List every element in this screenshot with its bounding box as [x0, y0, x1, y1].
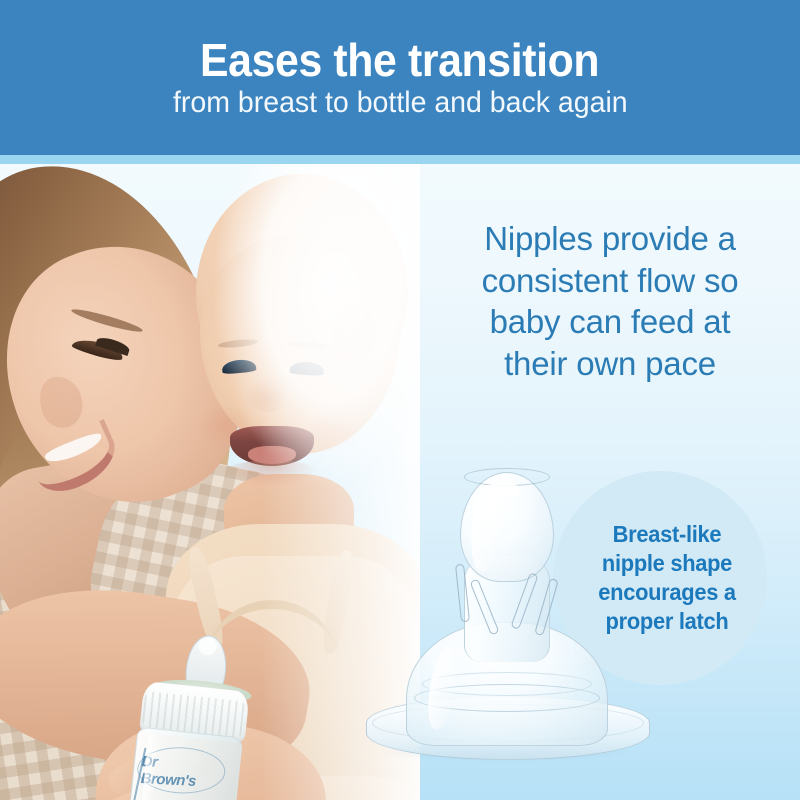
bottle-nipple-product-image — [352, 460, 662, 770]
baby-tongue — [248, 446, 296, 464]
feature-description-line: their own pace — [424, 343, 796, 385]
banner-headline: Eases the transition — [200, 37, 599, 85]
baby-cheek-right — [306, 408, 362, 452]
feature-description-line: Nipples provide a — [424, 218, 796, 260]
feature-description-line: baby can feed at — [424, 301, 796, 343]
banner-subheadline: from breast to bottle and back again — [173, 87, 628, 119]
baby-ear — [332, 302, 376, 364]
feature-description-line: consistent flow so — [424, 260, 796, 302]
banner-accent-strip — [0, 155, 800, 164]
product-feature-panel: Eases the transition from breast to bott… — [0, 0, 800, 800]
header-banner: Eases the transition from breast to bott… — [0, 0, 800, 155]
feature-description: Nipples provide a consistent flow so bab… — [424, 218, 796, 384]
baby-nose — [246, 376, 292, 412]
nipple-specular-highlight — [486, 482, 520, 498]
